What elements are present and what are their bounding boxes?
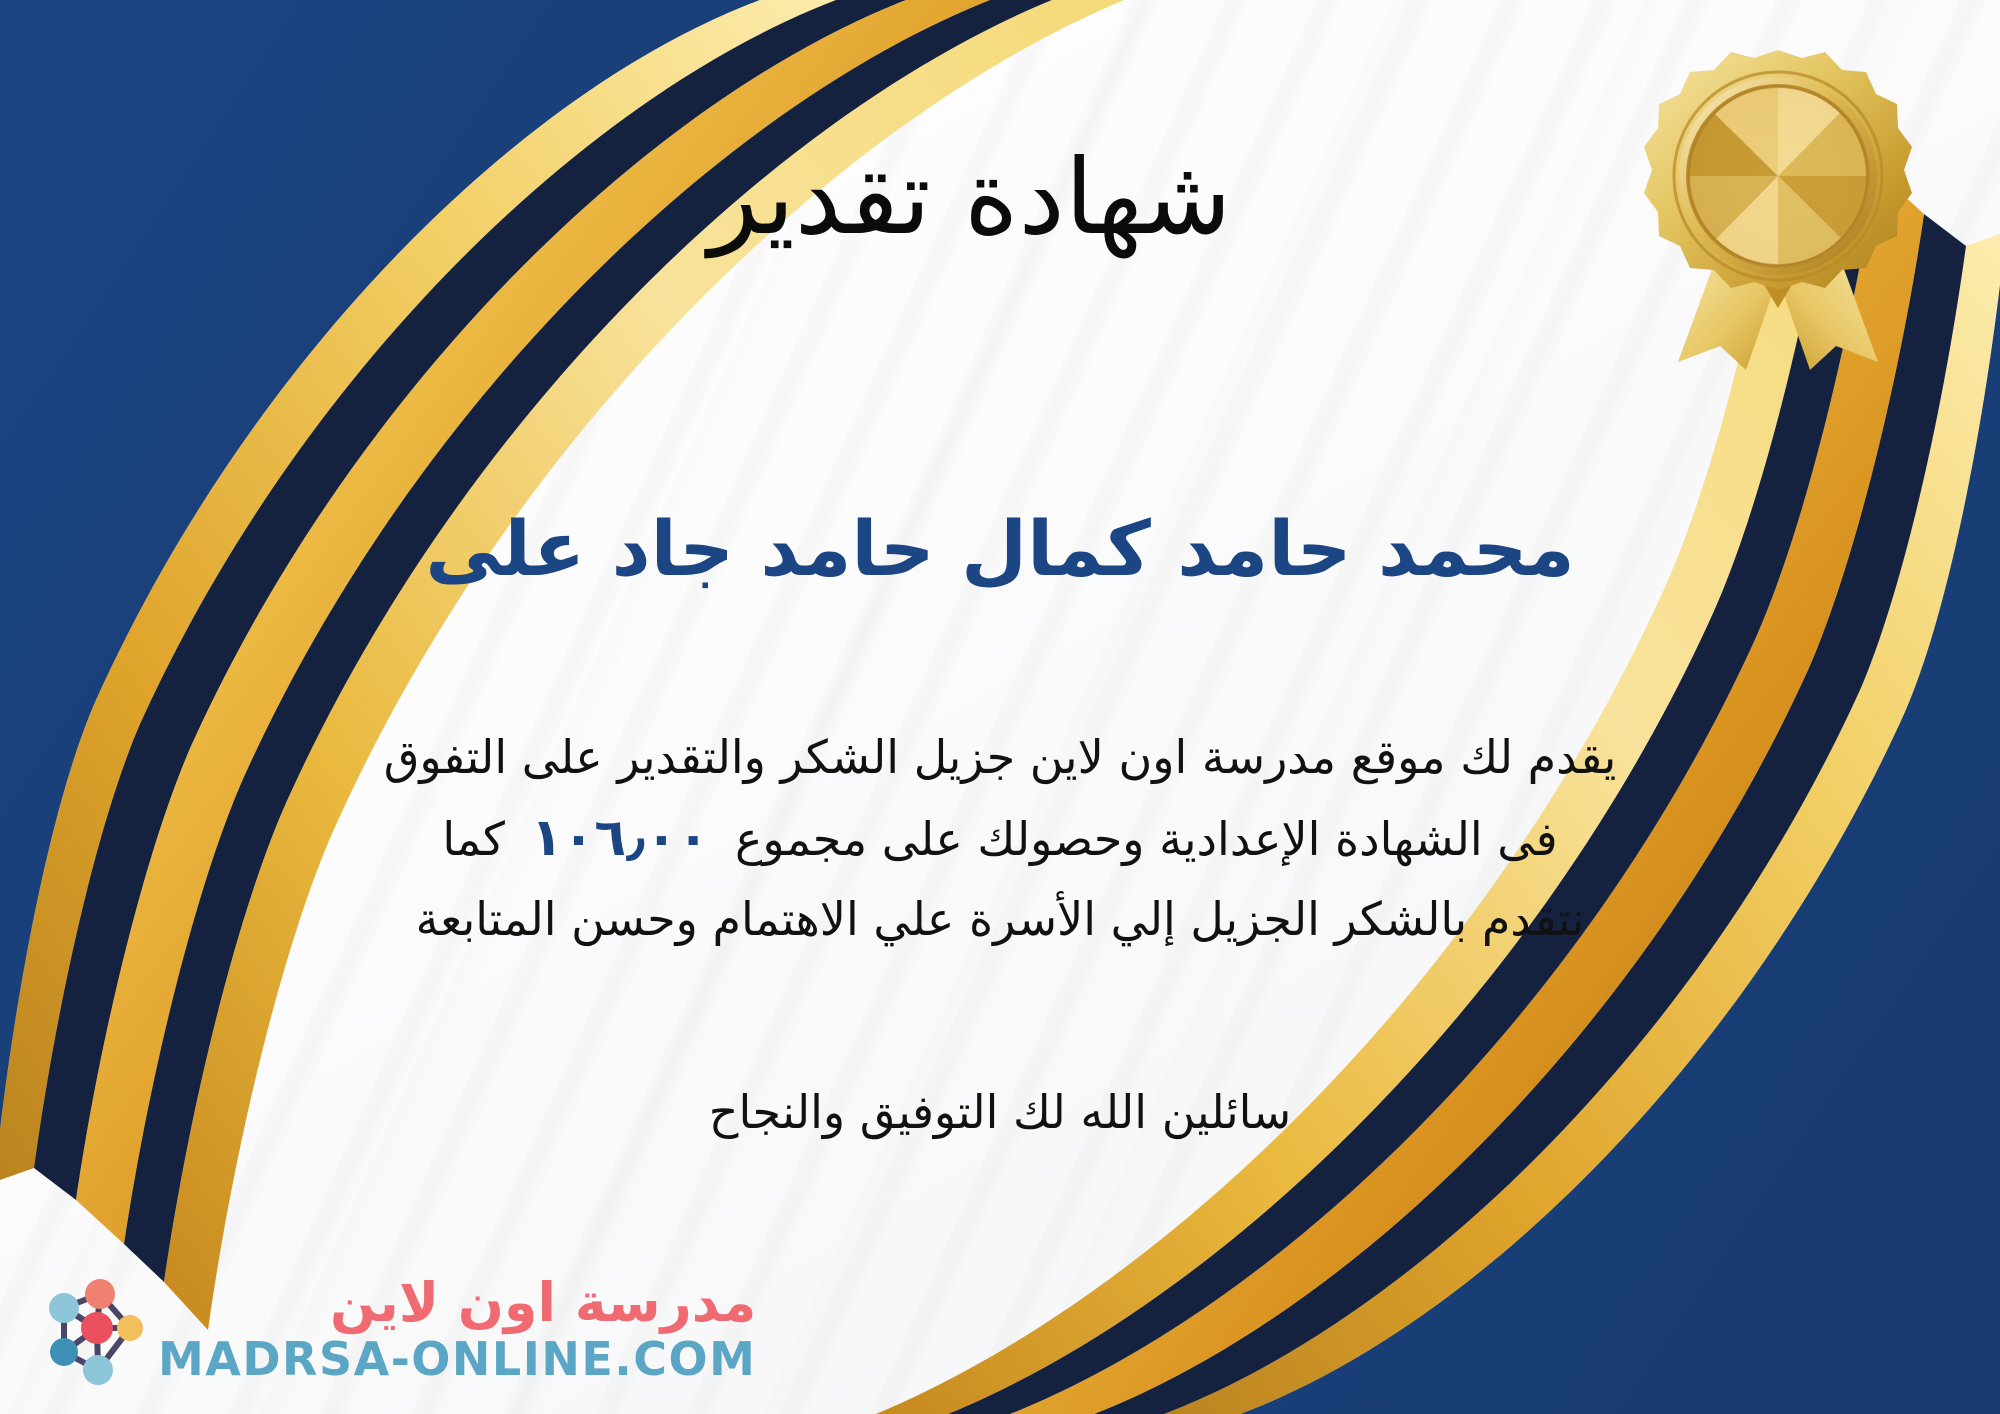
network-nodes-icon [34,1270,146,1388]
closing-wish-line: سائلين الله لك التوفيق والنجاح [0,1085,2000,1139]
body-line-1: يقدم لك موقع مدرسة اون لاين جزيل الشكر و… [60,720,1940,796]
brand-arabic-name: مدرسة اون لاين [330,1276,756,1330]
certificate-canvas: شهادة تقدير محمد حامد كمال حامد جاد على … [0,0,2000,1414]
body-line-2-suffix: كما [442,812,505,866]
grade-total-value: ١٠٦٫٠٠ [531,796,709,882]
body-line-2-prefix: فى الشهادة الإعدادية وحصولك على مجموع [735,812,1558,866]
brand-domain[interactable]: MADRSA-ONLINE.COM [158,1336,756,1382]
gold-award-seal-icon [1642,40,1914,370]
brand-logo[interactable]: مدرسة اون لاين MADRSA-ONLINE.COM [34,1270,756,1388]
body-line-3: نتقدم بالشكر الجزيل إلي الأسرة علي الاهت… [60,882,1940,958]
certificate-body: يقدم لك موقع مدرسة اون لاين جزيل الشكر و… [60,720,1940,958]
recipient-name: محمد حامد كمال حامد جاد على [0,500,2000,599]
body-line-2: فى الشهادة الإعدادية وحصولك على مجموع١٠٦… [60,796,1940,882]
brand-text-block: مدرسة اون لاين MADRSA-ONLINE.COM [158,1276,756,1382]
